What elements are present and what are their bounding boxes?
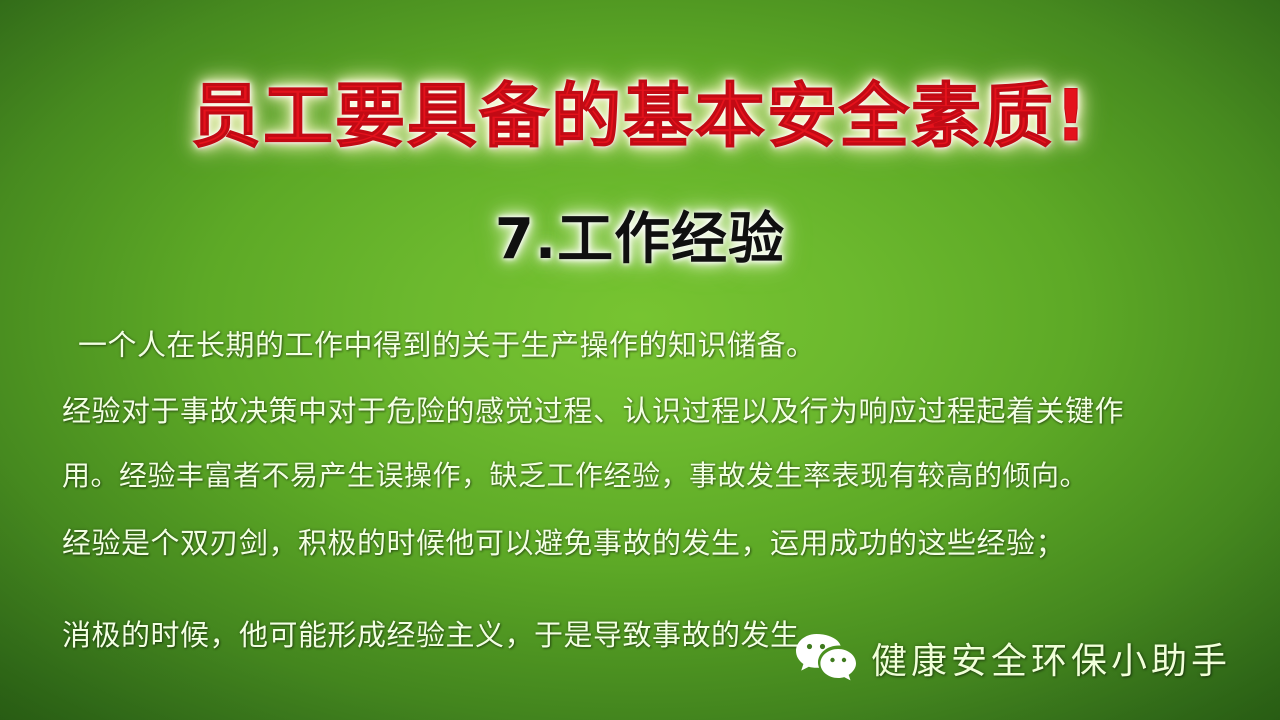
wechat-icon — [795, 632, 857, 684]
slide-canvas: 员工要具备的基本安全素质! 7.工作经验 一个人在长期的工作中得到的关于生产操作… — [0, 0, 1280, 720]
section-subtitle: 7.工作经验 — [495, 209, 785, 271]
body-text-block: 一个人在长期的工作中得到的关于生产操作的知识储备。 经验对于事故决策中对于危险的… — [62, 322, 1242, 654]
watermark-label: 健康安全环保小助手 — [871, 632, 1231, 684]
subtitle-block: 7.工作经验 — [0, 209, 1280, 271]
title-block: 员工要具备的基本安全素质! — [0, 80, 1280, 154]
body-line: 经验是个双刃剑，积极的时候他可以避免事故的发生，运用成功的这些经验； — [62, 520, 1242, 562]
body-line: 经验对于事故决策中对于危险的感觉过程、认识过程以及行为响应过程起着关键作 — [62, 388, 1242, 430]
page-title: 员工要具备的基本安全素质! — [191, 80, 1089, 154]
body-line: 用。经验丰富者不易产生误操作，缺乏工作经验，事故发生率表现有较高的倾向。 — [62, 454, 1242, 494]
watermark: 健康安全环保小助手 — [795, 632, 1231, 684]
body-line: 一个人在长期的工作中得到的关于生产操作的知识储备。 — [78, 322, 1242, 364]
